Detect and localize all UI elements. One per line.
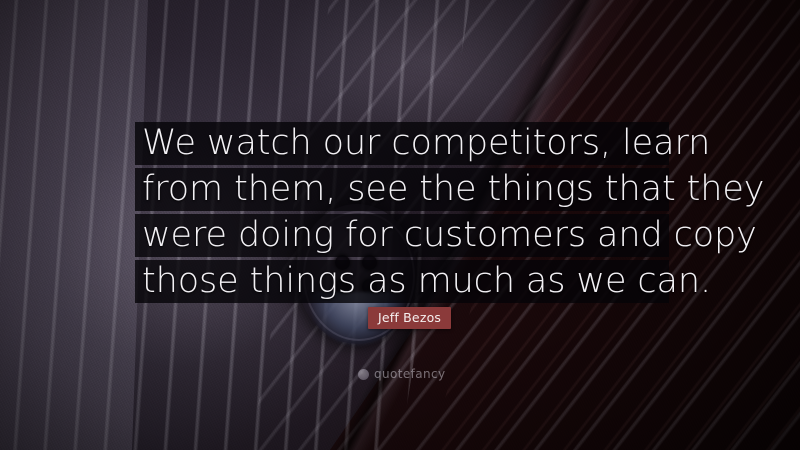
quote-line: We watch our competitors, learn <box>135 122 669 165</box>
watermark-brand: quotefancy <box>374 368 446 381</box>
quote-line: those things as much as we can. <box>135 260 669 303</box>
circle-logo-icon <box>358 369 369 380</box>
quote-line: were doing for customers and copy <box>135 214 669 257</box>
watermark: quotefancy <box>358 368 446 381</box>
author-attribution-badge: Jeff Bezos <box>368 307 451 329</box>
quote-text-block: We watch our competitors, learn from the… <box>135 122 669 306</box>
quote-poster: We watch our competitors, learn from the… <box>0 0 800 450</box>
quote-line: from them, see the things that they <box>135 168 669 211</box>
